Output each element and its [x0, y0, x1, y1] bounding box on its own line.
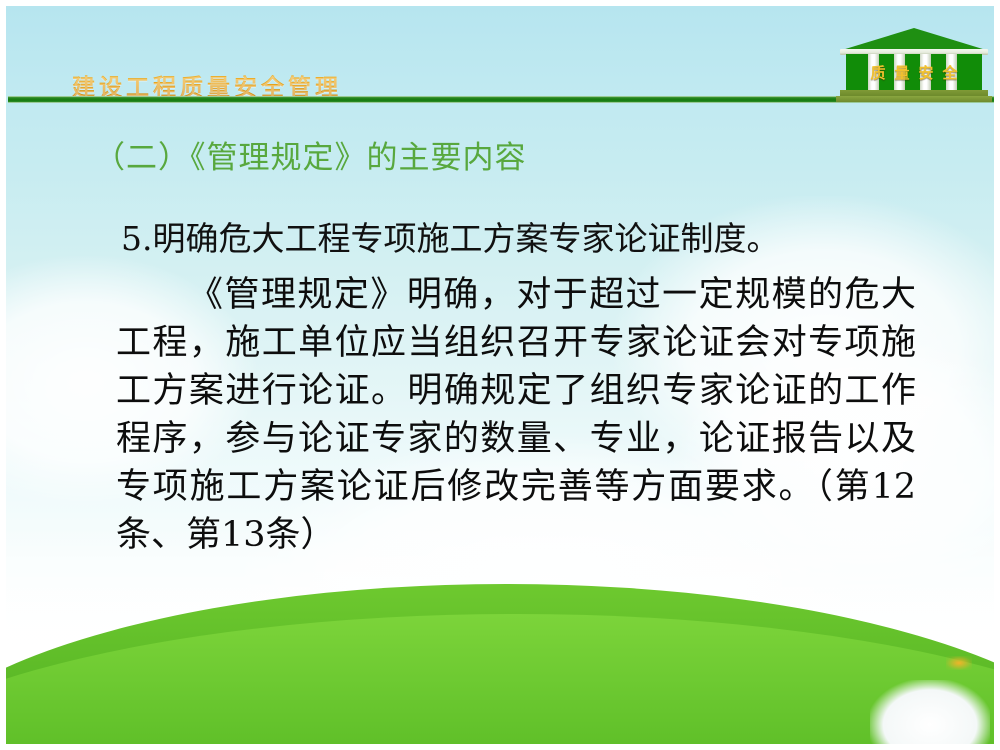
section-heading: （二）《管理规定》的主要内容: [94, 132, 527, 177]
slide-artboard: 建设工程质量安全管理 质量安全 （二）《管理规定》的主要内容 5.明确危大工程专…: [6, 6, 994, 744]
logo-base-lower: [836, 96, 992, 102]
government-building-logo: 质量安全: [836, 28, 992, 102]
presentation-slide: 建设工程质量安全管理 质量安全 （二）《管理规定》的主要内容 5.明确危大工程专…: [0, 0, 1000, 750]
bullet-item-5-heading: 5.明确危大工程专项施工方案专家论证制度。: [121, 212, 780, 260]
logo-text-label: 质量安全: [850, 62, 978, 83]
bush-decoration-right: [870, 680, 990, 744]
flower-decoration-right: [946, 656, 972, 670]
body-paragraph: 《管理规定》明确，对于超过一定规模的危大工程，施工单位应当组织召开专家论证会对专…: [116, 271, 916, 559]
logo-pediment-icon: [842, 28, 986, 50]
